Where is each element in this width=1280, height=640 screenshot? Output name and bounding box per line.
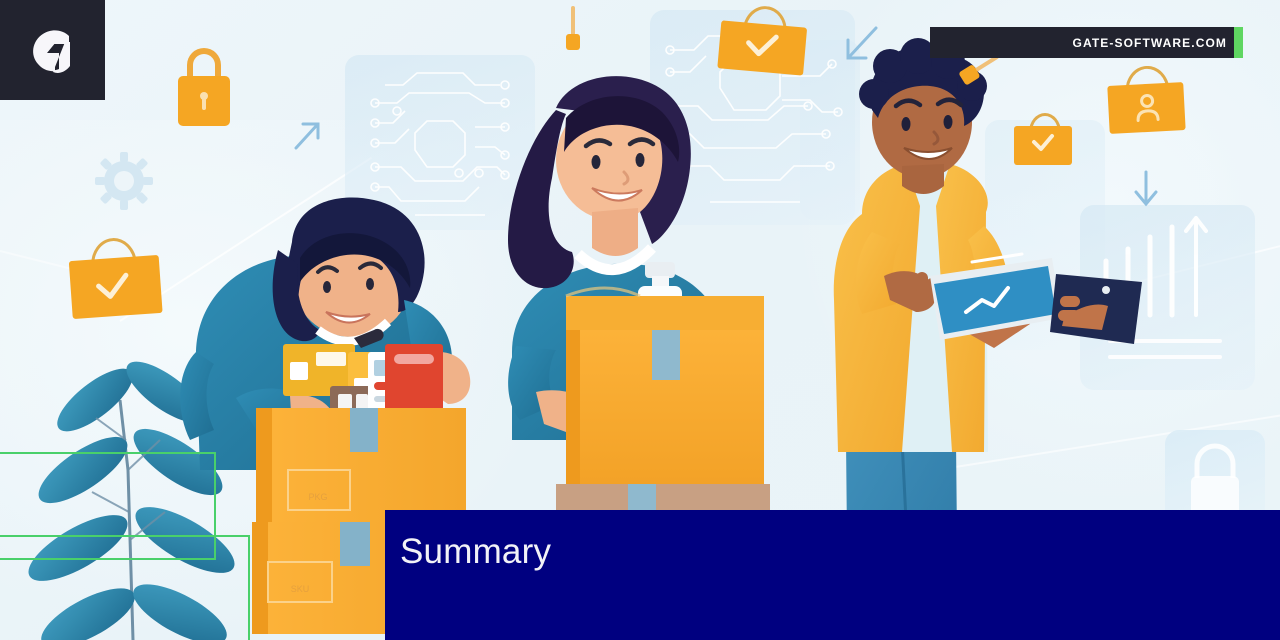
tablet-device [930, 254, 1062, 340]
banner-accent-bar [1234, 27, 1243, 58]
shopping-bag-person-icon [1106, 64, 1185, 134]
shopping-bag-check-icon [67, 235, 162, 319]
decor-diagonal-line [930, 414, 1280, 472]
gear-icon [95, 152, 153, 210]
cardboard-box-center [556, 288, 770, 510]
bottle-prop [638, 262, 682, 330]
decor-panel-card [985, 120, 1105, 350]
decor-panel-card [800, 40, 860, 220]
green-frame-lower [0, 535, 250, 640]
summary-title: Summary [400, 532, 551, 572]
brush-icon [961, 53, 1021, 111]
bar-chart-card [1080, 205, 1255, 390]
website-url-banner[interactable]: GATE-SOFTWARE.COM [930, 27, 1243, 58]
summary-panel: Summary [385, 510, 1280, 640]
phone-device [1050, 274, 1142, 344]
arrow-down-left-icon [840, 22, 882, 66]
leaf-plant [20, 351, 244, 640]
shopping-bag-check-icon [717, 2, 808, 75]
green-frame-upper [0, 452, 216, 560]
arrow-up-right-icon [290, 118, 324, 154]
decor-diagonal-line [1060, 242, 1280, 302]
brand-logo-tile[interactable] [0, 0, 105, 100]
character-packer-left [180, 197, 470, 470]
map-pin-icon [566, 6, 580, 50]
shopping-bag-check-icon [1014, 113, 1072, 165]
padlock-icon [178, 48, 230, 126]
svg-text:PKG: PKG [308, 492, 327, 502]
circuit-board-card [345, 55, 535, 230]
circuit-icon [345, 55, 535, 230]
parcel-group-left [283, 329, 443, 420]
svg-text:SKU: SKU [291, 584, 310, 594]
circuit-icon [650, 10, 855, 225]
circuit-board-card [650, 10, 855, 225]
arrow-down-icon [1130, 168, 1162, 212]
decor-diagonal-line [0, 250, 155, 291]
decor-diagonal-line [119, 157, 372, 322]
website-url-text: GATE-SOFTWARE.COM [1073, 36, 1243, 50]
character-packer-center [508, 76, 763, 440]
background-wash-right [800, 0, 1280, 520]
slide-canvas: PKG SKU [0, 0, 1280, 640]
letter-g-logo-icon [23, 20, 83, 80]
bar-chart-icon [1080, 205, 1255, 390]
